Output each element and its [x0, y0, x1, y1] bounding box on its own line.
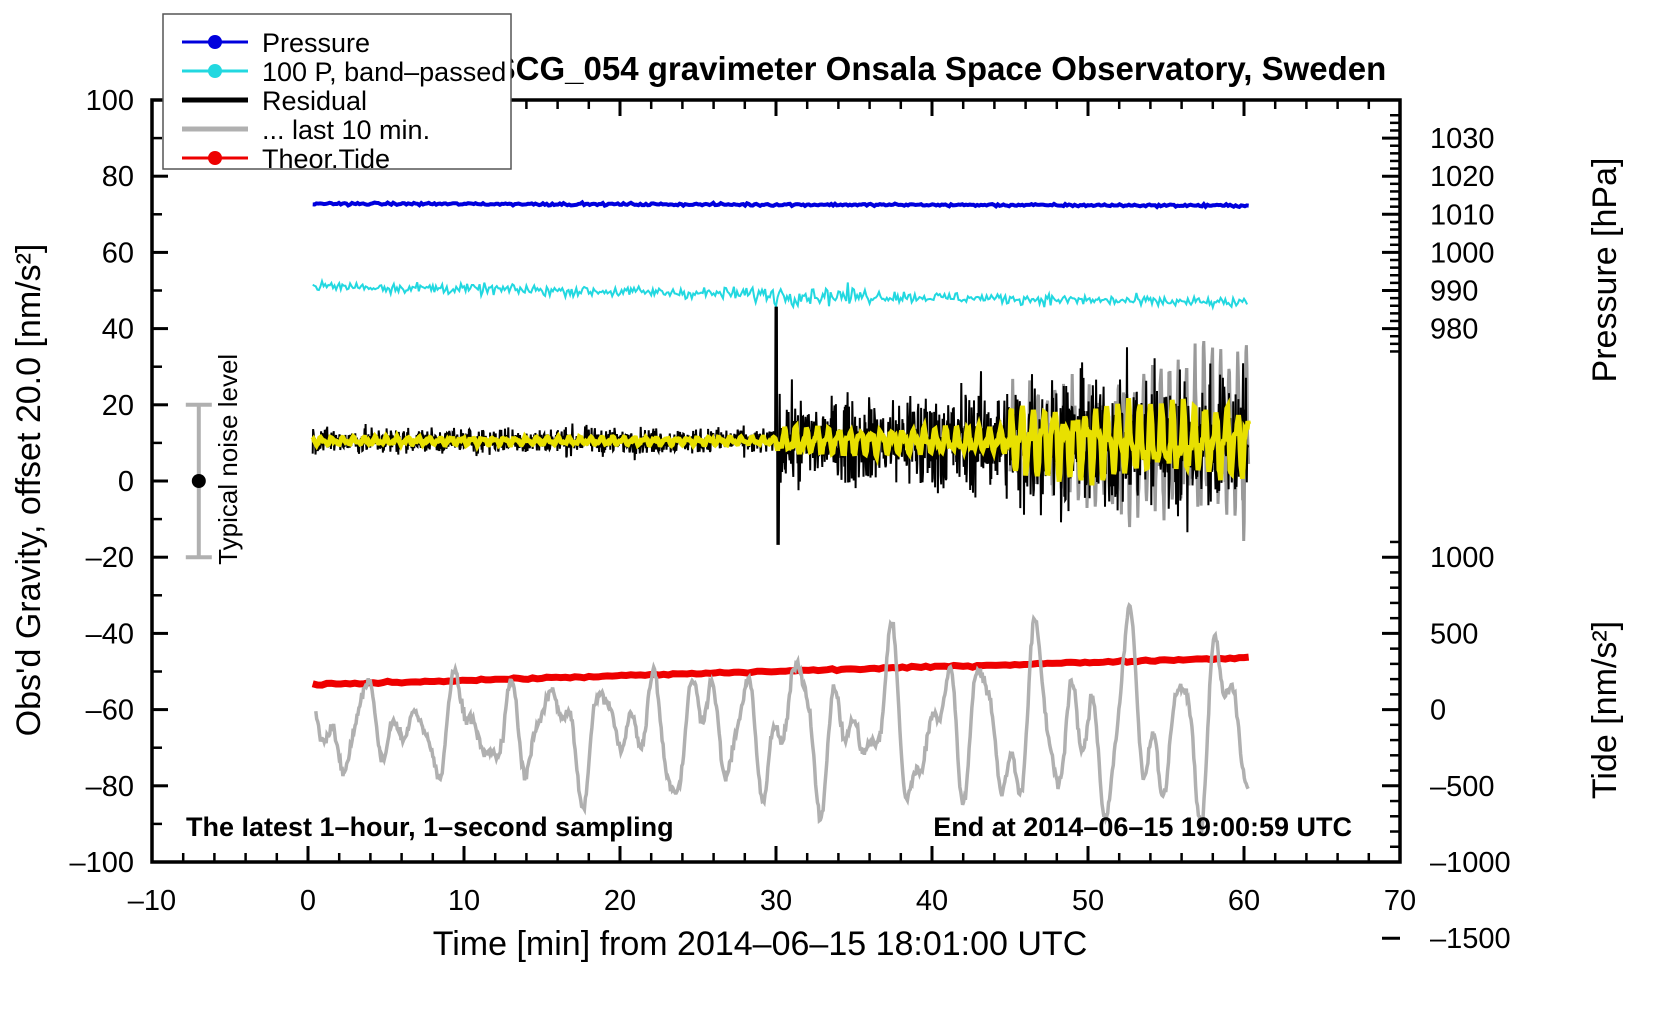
x-tick-label: 10 [448, 885, 480, 917]
y-tick-label: –40 [86, 618, 134, 650]
x-tick-label: 40 [916, 885, 948, 917]
pressure-tick-label: 1000 [1430, 237, 1495, 269]
x-tick-label: –10 [128, 885, 176, 917]
y-tick-label: –60 [86, 695, 134, 727]
tide-tick-label: –1500 [1430, 923, 1511, 955]
x-tick-label: 70 [1384, 885, 1416, 917]
pressure-tick-label: 990 [1430, 276, 1478, 308]
noise-center-dot [192, 474, 206, 488]
y-tick-label: 60 [102, 237, 134, 269]
legend-label[interactable]: 100 P, band–passed [262, 57, 506, 87]
annotation-bottom-left: The latest 1–hour, 1–second sampling [186, 812, 674, 842]
pressure-tick-label: 980 [1430, 314, 1478, 346]
y-tick-label: 100 [86, 85, 134, 117]
pressure-tick-label: 1020 [1430, 161, 1495, 193]
x-tick-label: 60 [1228, 885, 1260, 917]
tide-tick-label: –1000 [1430, 847, 1511, 879]
legend-label[interactable]: ... last 10 min. [262, 115, 430, 145]
tide-tick-label: 0 [1430, 695, 1446, 727]
legend[interactable]: Pressure100 P, band–passedResidual... la… [163, 14, 511, 174]
x-tick-label: 30 [760, 885, 792, 917]
y-tick-label: –80 [86, 771, 134, 803]
pressure-tick-label: 1030 [1430, 123, 1495, 155]
y-tick-label: 20 [102, 390, 134, 422]
y-axis-title-tide: Tide [nm/s²] [1586, 621, 1624, 799]
x-tick-label: 0 [300, 885, 316, 917]
y-tick-label: 0 [118, 466, 134, 498]
tide-tick-label: –500 [1430, 771, 1495, 803]
chart-root: –100–80–60–40–20020406080100–10010203040… [0, 0, 1660, 1020]
y-tick-label: 80 [102, 161, 134, 193]
y-axis-title-pressure: Pressure [hPa] [1586, 158, 1624, 383]
chart-title: SCG_054 gravimeter Onsala Space Observat… [494, 50, 1387, 87]
y-tick-label: –20 [86, 542, 134, 574]
legend-marker-dot [208, 35, 222, 49]
y-axis-title-left: Obs'd Gravity, offset 20.0 [nm/s²] [10, 244, 48, 737]
tide-tick-label: 500 [1430, 618, 1478, 650]
annotation-bottom-right: End at 2014–06–15 19:00:59 UTC [933, 812, 1352, 842]
x-tick-label: 20 [604, 885, 636, 917]
y-tick-label: 40 [102, 314, 134, 346]
legend-label[interactable]: Pressure [262, 28, 370, 58]
tide-tick-label: 1000 [1430, 542, 1495, 574]
gravimeter-time-series-plot: –100–80–60–40–20020406080100–10010203040… [0, 0, 1660, 1020]
legend-label[interactable]: Theor.Tide [262, 144, 390, 174]
legend-marker-dot [208, 64, 222, 78]
x-axis-title: Time [min] from 2014–06–15 18:01:00 UTC [433, 925, 1088, 963]
y-tick-label: –100 [69, 847, 134, 879]
legend-marker-dot [208, 151, 222, 165]
legend-label[interactable]: Residual [262, 86, 367, 116]
x-tick-label: 50 [1072, 885, 1104, 917]
noise-marker-label: Typical noise level [213, 354, 243, 565]
pressure-tick-label: 1010 [1430, 199, 1495, 231]
